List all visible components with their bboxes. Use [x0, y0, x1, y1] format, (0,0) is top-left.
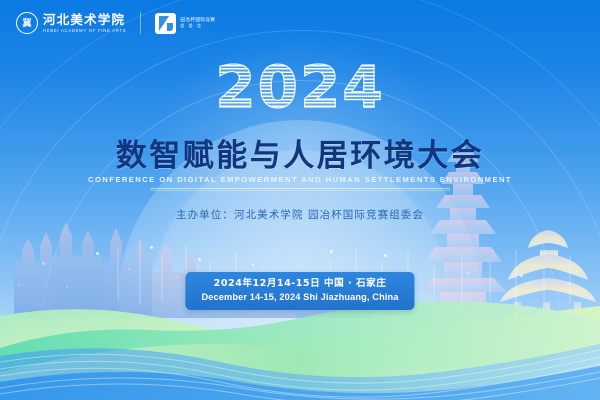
academy-seal-icon: 冀	[16, 12, 38, 34]
page-title: 数智赋能与人居环境大会	[0, 130, 600, 175]
academy-name-en: HEBEI ACADEMY OF FINE ARTS	[43, 28, 126, 33]
partner-name-cn: 园冶杯国际竞赛	[180, 17, 215, 23]
logo-divider	[140, 12, 141, 34]
logo-bar: 冀 河北美术学院 HEBEI ACADEMY OF FINE ARTS 园冶杯国…	[16, 12, 215, 34]
academy-name-cn: 河北美术学院	[43, 13, 126, 27]
date-location-cn: 2024年12月14-15日 中国 · 石家庄	[201, 278, 398, 291]
partner-logo[interactable]: 园冶杯国际竞赛 组 委 会	[155, 13, 215, 34]
partner-mark-icon	[155, 13, 176, 34]
page-subtitle-en: CONFERENCE ON DIGITAL EMPOWERMENT AND HU…	[0, 175, 600, 184]
date-location-en: December 14-15, 2024 Shi Jiazhuang, Chin…	[201, 291, 398, 303]
organizer-line: 主办单位：河北美术学院 园冶杯国际竞赛组委会	[0, 207, 600, 222]
partner-name-sub: 组 委 会	[180, 23, 215, 29]
conference-banner: 冀 河北美术学院 HEBEI ACADEMY OF FINE ARTS 园冶杯国…	[0, 0, 600, 400]
year-text: 2024	[215, 58, 384, 116]
year-heading: 2024	[0, 58, 600, 116]
pavilion-silhouette	[500, 230, 596, 346]
date-location-badge[interactable]: 2024年12月14-15日 中国 · 石家庄 December 14-15, …	[185, 272, 414, 310]
title-rule-divider	[150, 188, 450, 191]
academy-logo[interactable]: 冀 河北美术学院 HEBEI ACADEMY OF FINE ARTS	[16, 12, 126, 34]
